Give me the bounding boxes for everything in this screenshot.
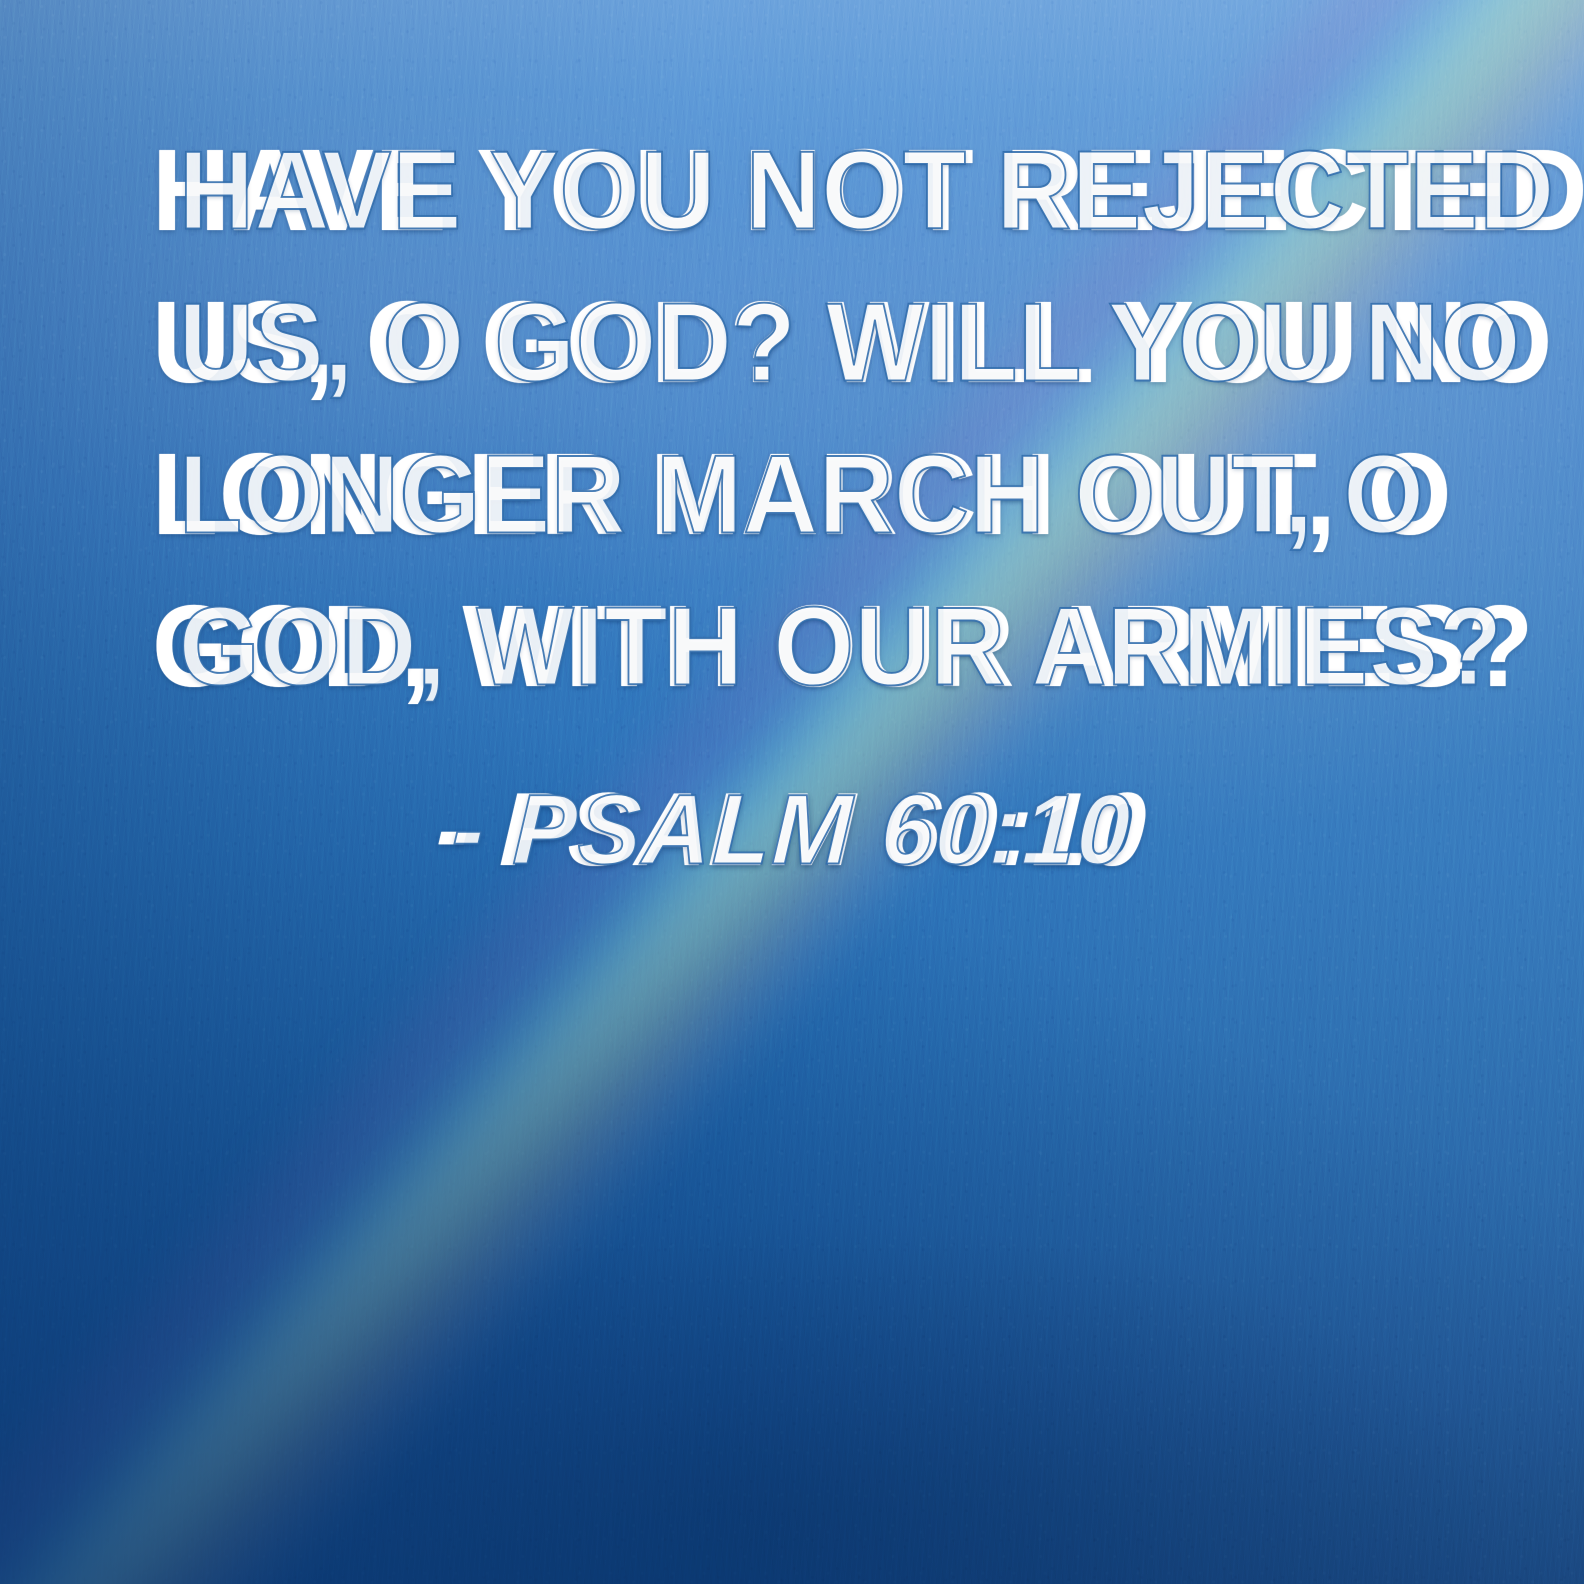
verse-line-1: HAVE YOU NOT REJECTED HAVE YOU NOT REJEC… <box>152 132 1432 248</box>
verse-citation-text: - PSALM 60:10 <box>434 772 1151 888</box>
verse-line-4-text: GOD, WITH OUR ARMIES? <box>152 581 1534 711</box>
verse-line-2: US, O GOD? WILL YOU NO US, O GOD? WILL Y… <box>152 284 1432 400</box>
verse-citation: - PSALM 60:10 - PSALM 60:10 <box>136 778 1448 882</box>
verse-text-block: HAVE YOU NOT REJECTED HAVE YOU NOT REJEC… <box>0 0 1584 882</box>
verse-line-4: GOD, WITH OUR ARMIES? GOD, WITH OUR ARMI… <box>152 588 1432 704</box>
verse-image-canvas: HAVE YOU NOT REJECTED HAVE YOU NOT REJEC… <box>0 0 1584 1584</box>
verse-line-3-text: LONGER MARCH OUT, O <box>152 429 1452 559</box>
verse-line-2-text: US, O GOD? WILL YOU NO <box>152 277 1553 407</box>
verse-line-3: LONGER MARCH OUT, O LONGER MARCH OUT, O <box>152 436 1432 552</box>
verse-line-1-text: HAVE YOU NOT REJECTED <box>152 125 1584 255</box>
